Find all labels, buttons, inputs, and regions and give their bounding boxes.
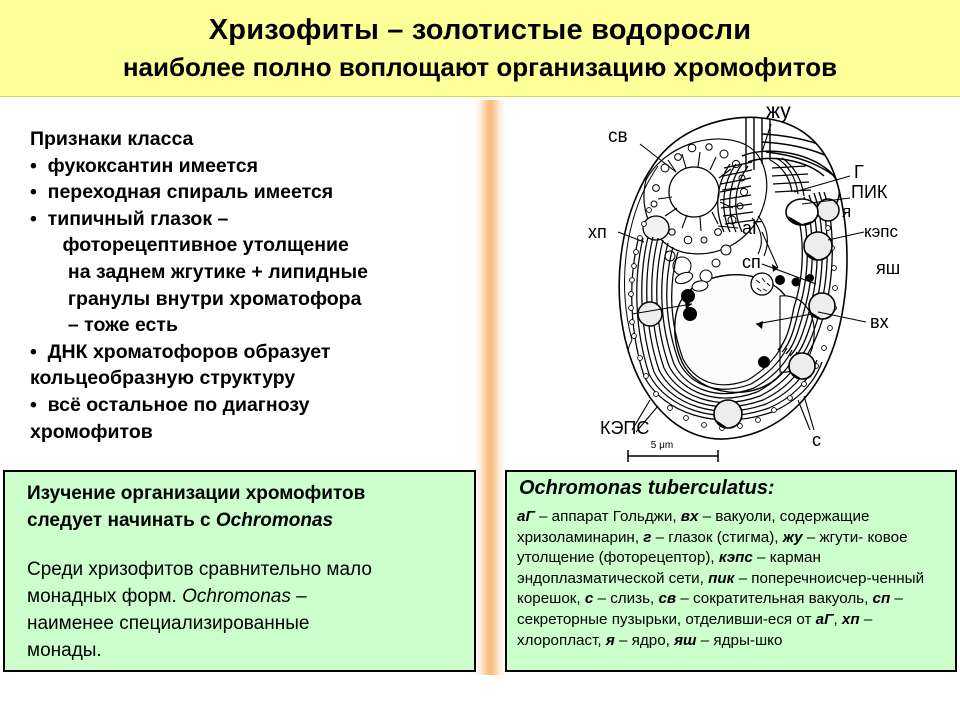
legend-abbr: я	[606, 632, 615, 649]
diagram-label-vh: вх	[870, 312, 889, 333]
diagram-label-sp: сп	[742, 252, 761, 273]
lipid-granule	[643, 216, 669, 240]
green-left-content: Изучение организации хромофитов следует …	[27, 480, 467, 664]
legend-text: – карман	[753, 549, 821, 566]
green-left-bold-line-2: следует начинать с Ochromonas	[27, 507, 467, 534]
list-item: хромофитов	[30, 419, 470, 446]
class-features-heading: Признаки класса	[30, 126, 470, 153]
diagram-label-aG: аГ	[742, 218, 762, 239]
green-left-bold-prefix: следует начинать с	[27, 510, 216, 531]
diagram-label-pik: ПИК	[851, 182, 887, 203]
legend-abbr: пик	[708, 570, 734, 587]
scale-bar	[628, 450, 718, 462]
list-item: • фукоксантин имеется	[30, 153, 470, 180]
green-left-para-line-3: наименее специализированные	[27, 610, 467, 637]
legend-abbr: жу	[783, 529, 803, 546]
ochromonas-cell-diagram: 5 μm жу св Г ПИК я кэпс хп аГ сп яш вх К…	[566, 100, 960, 468]
list-item: • ДНК хроматофоров образует	[30, 339, 470, 366]
leader-s1	[798, 400, 810, 430]
green-left-para-line-1: Среди хризофитов сравнительно мало	[27, 556, 467, 583]
legend-text: ,	[833, 611, 841, 628]
spacer	[27, 534, 467, 556]
list-item: фоторецептивное утолщение	[30, 232, 470, 259]
legend-text: – ядро,	[615, 632, 674, 649]
para-prefix: монадных форм.	[27, 586, 182, 607]
legend-text: –	[734, 570, 747, 587]
green-left-para-line-4: монады.	[27, 637, 467, 664]
cell-micrograph-drawing: 5 μm	[566, 100, 960, 468]
diagram-label-yash: яш	[876, 258, 900, 279]
species-name-title: Ochromonas tuberculatus:	[519, 477, 775, 500]
title-line-2: наиболее полно воплощают организацию хро…	[0, 52, 960, 83]
leader-s2	[804, 396, 814, 430]
diagram-label-keps-right: кэпс	[864, 222, 898, 242]
list-item: гранулы внутри хроматофора	[30, 286, 470, 313]
list-item: – тоже есть	[30, 312, 470, 339]
legend-abbr: кэпс	[719, 549, 753, 566]
legend-text: пузырьки, отделивши-еся от	[612, 611, 816, 628]
legend-abbr: св	[658, 590, 676, 607]
legend-text: – ядры-шко	[697, 632, 783, 649]
title-banner: Хризофиты – золотистые водоросли наиболе…	[0, 0, 960, 97]
diagram-label-ya: я	[842, 202, 851, 222]
legend-text: – жгути-	[803, 529, 864, 546]
legend-text: – глазок (стигма),	[651, 529, 782, 546]
legend-text: эндоплазматической сети,	[517, 570, 708, 587]
legend-text: хризоламинарин,	[517, 529, 643, 546]
title-line-1: Хризофиты – золотистые водоросли	[0, 14, 960, 47]
green-left-bold-italic: Ochromonas	[216, 510, 333, 531]
legend-abbr: аГ	[816, 611, 834, 628]
legend-abbr: яш	[674, 632, 696, 649]
list-item: на заднем жгутике + липидные	[30, 259, 470, 286]
list-item: • переходная спираль имеется	[30, 179, 470, 206]
legend-text: – вакуоли, содержащие	[698, 508, 869, 525]
vertical-divider-gradient	[474, 100, 506, 675]
para-italic: Ochromonas	[182, 586, 291, 607]
green-left-bold-line-1: Изучение организации хромофитов	[27, 480, 467, 507]
list-item: • типичный глазок –	[30, 206, 470, 233]
diagram-label-g: Г	[854, 162, 864, 183]
slide-root: Хризофиты – золотистые водоросли наиболе…	[0, 0, 960, 720]
legend-text: – слизь,	[593, 590, 658, 607]
contractile-vacuole	[669, 167, 719, 217]
list-item: • всё остальное по диагнозу	[30, 392, 470, 419]
class-features-list: Признаки класса • фукоксантин имеется • …	[30, 126, 470, 445]
green-panel-left: Изучение организации хромофитов следует …	[3, 470, 476, 672]
legend-text: –	[676, 590, 689, 607]
legend-text: сократительная вакуоль,	[693, 590, 873, 607]
para-suffix: –	[291, 586, 307, 607]
green-panel-right: Ochromonas tuberculatus: аГ – аппарат Го…	[505, 470, 957, 672]
legend-abbr: вх	[681, 508, 699, 525]
scale-bar-label: 5 μm	[651, 440, 673, 451]
green-left-para-line-2: монадных форм. Ochromonas –	[27, 583, 467, 610]
diagram-label-s: с	[812, 430, 821, 451]
secretory-vesicle	[751, 273, 773, 295]
diagram-label-sv: св	[608, 126, 628, 148]
legend-abbr: аГ	[517, 508, 535, 525]
legend-abbr: сп	[873, 590, 891, 607]
legend-abbreviations: аГ – аппарат Гольджи, вх – вакуоли, соде…	[517, 507, 953, 651]
diagram-label-hp: хп	[588, 222, 607, 243]
legend-abbr: хп	[842, 611, 860, 628]
legend-text: – аппарат Гольджи,	[535, 508, 681, 525]
list-item: кольцеобразную структуру	[30, 365, 470, 392]
diagram-label-keps-bottom: КЭПС	[600, 418, 649, 439]
diagram-label-zhu: жу	[766, 100, 791, 124]
